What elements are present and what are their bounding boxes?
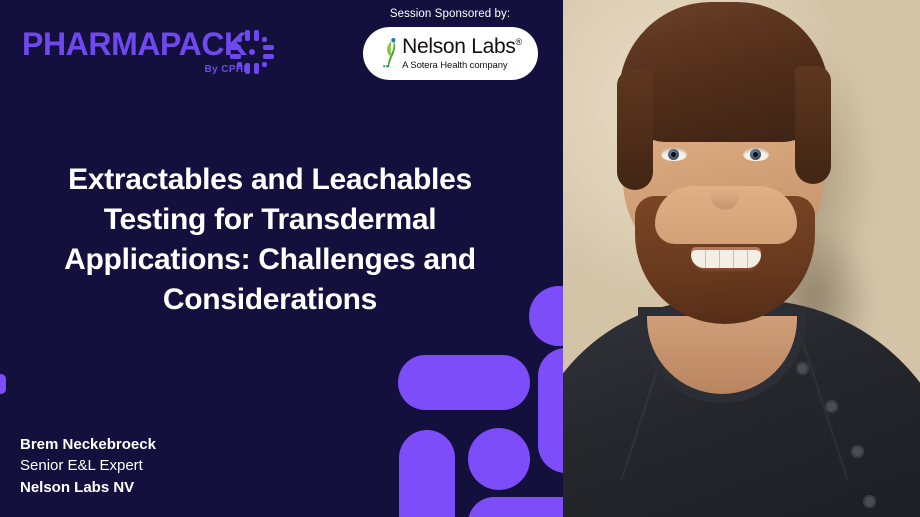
speaker-photo [563,0,920,517]
sponsor-logo-badge: Nelson Labs® A Sotera Health company [363,27,538,80]
decor-pill-bottom [468,497,563,517]
sponsor-tagline: A Sotera Health company [402,60,507,71]
pharmapack-starburst-icon [230,30,274,74]
slide-title: Extractables and Leachables Testing for … [20,160,520,320]
photo-button [851,445,864,458]
photo-iris-right [750,149,761,160]
presentation-slide: PHARMAPACK By CPHI Session Sponsored by: [0,0,920,517]
nelson-labs-leaf-icon [382,38,399,72]
photo-mouth [691,250,761,268]
pharmapack-logo: PHARMAPACK By CPHI [22,28,247,60]
sponsor-name-text: Nelson Labs [402,35,515,58]
photo-eye-right [743,148,769,161]
photo-nose [711,176,739,210]
photo-button [863,495,876,508]
photo-pupil-left [671,152,676,157]
photo-button [825,400,838,413]
decor-bar-left [399,430,455,517]
sponsor-label: Session Sponsored by: [352,8,548,20]
photo-pupil-right [753,152,758,157]
photo-hair-right-side [795,66,831,184]
slide-left-panel: PHARMAPACK By CPHI Session Sponsored by: [0,0,563,517]
speaker-organization: Nelson Labs NV [20,477,156,498]
speaker-role: Senior E&L Expert [20,455,156,476]
sponsor-block: Session Sponsored by: Nelson Labs® [352,8,548,80]
decor-edge-dot [0,374,6,394]
pharmapack-wordmark: PHARMAPACK [22,28,247,60]
decor-pill-wide [398,355,530,410]
speaker-block: Brem Neckebroeck Senior E&L Expert Nelso… [20,434,156,498]
registered-trademark-icon: ® [516,37,522,47]
decor-circle-mid [468,428,530,490]
sponsor-name: Nelson Labs® [402,36,522,57]
photo-eye-left [661,148,687,161]
photo-button [796,362,809,375]
decor-bar-right [538,348,563,473]
speaker-name: Brem Neckebroeck [20,434,156,455]
photo-iris-left [668,149,679,160]
decor-circle-top [529,286,563,346]
photo-hair-left-side [617,70,653,190]
